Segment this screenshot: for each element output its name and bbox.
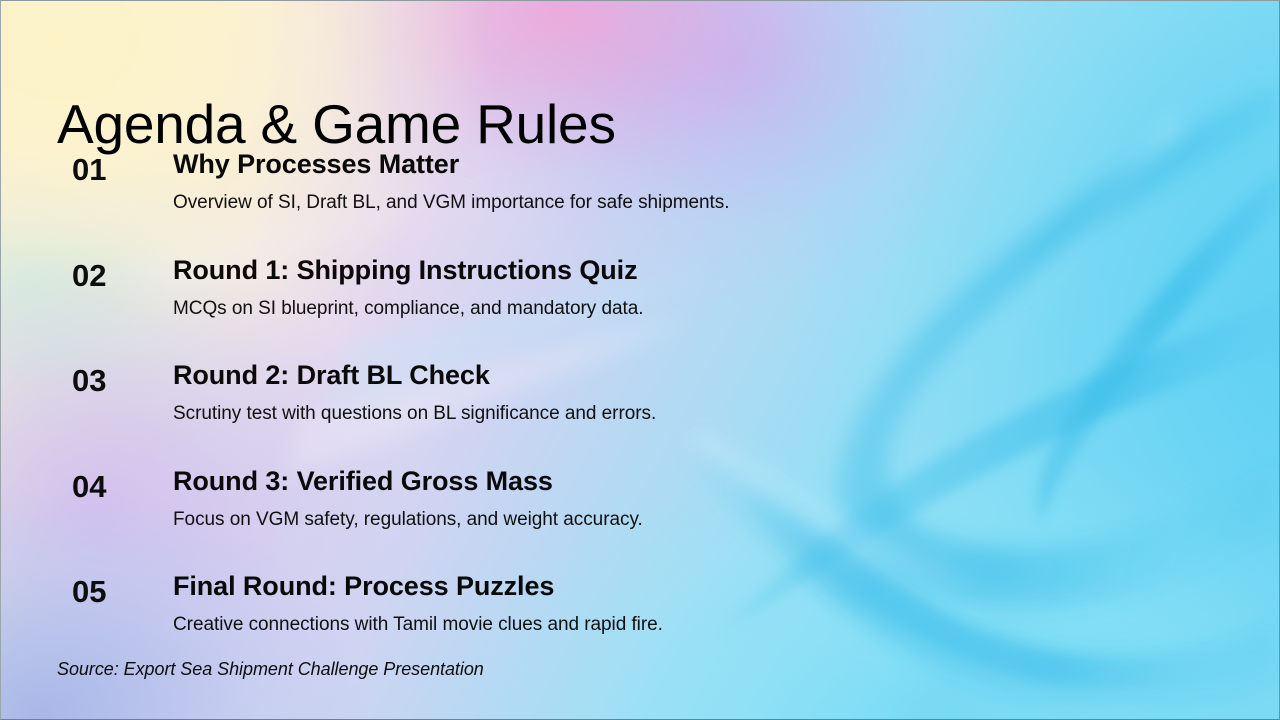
agenda-item-03: 03 Round 2: Draft BL Check Scrutiny test… — [1, 365, 1280, 471]
slide-source-footer: Source: Export Sea Shipment Challenge Pr… — [57, 659, 484, 680]
agenda-item-heading: Round 2: Draft BL Check — [173, 359, 490, 393]
agenda-item-number: 03 — [72, 365, 106, 396]
agenda-item-number: 01 — [72, 154, 106, 185]
agenda-item-description: Focus on VGM safety, regulations, and we… — [173, 508, 643, 532]
slide-title: Agenda & Game Rules — [57, 96, 616, 154]
agenda-item-number: 05 — [72, 576, 106, 607]
agenda-item-heading: Why Processes Matter — [173, 148, 459, 182]
agenda-item-description: Scrutiny test with questions on BL signi… — [173, 402, 656, 426]
agenda-list: 01 Why Processes Matter Overview of SI, … — [1, 154, 1280, 682]
slide-content: Agenda & Game Rules 01 Why Processes Mat… — [1, 1, 1279, 719]
agenda-item-heading: Final Round: Process Puzzles — [173, 570, 554, 604]
agenda-item-04: 04 Round 3: Verified Gross Mass Focus on… — [1, 471, 1280, 577]
agenda-item-description: Creative connections with Tamil movie cl… — [173, 613, 663, 637]
agenda-item-description: Overview of SI, Draft BL, and VGM import… — [173, 191, 729, 215]
agenda-item-number: 02 — [72, 260, 106, 291]
agenda-item-number: 04 — [72, 471, 106, 502]
agenda-item-description: MCQs on SI blueprint, compliance, and ma… — [173, 297, 644, 321]
agenda-item-02: 02 Round 1: Shipping Instructions Quiz M… — [1, 260, 1280, 366]
agenda-item-heading: Round 1: Shipping Instructions Quiz — [173, 254, 637, 288]
agenda-item-heading: Round 3: Verified Gross Mass — [173, 465, 553, 499]
presentation-slide: Agenda & Game Rules 01 Why Processes Mat… — [0, 0, 1280, 720]
agenda-item-01: 01 Why Processes Matter Overview of SI, … — [1, 154, 1280, 260]
